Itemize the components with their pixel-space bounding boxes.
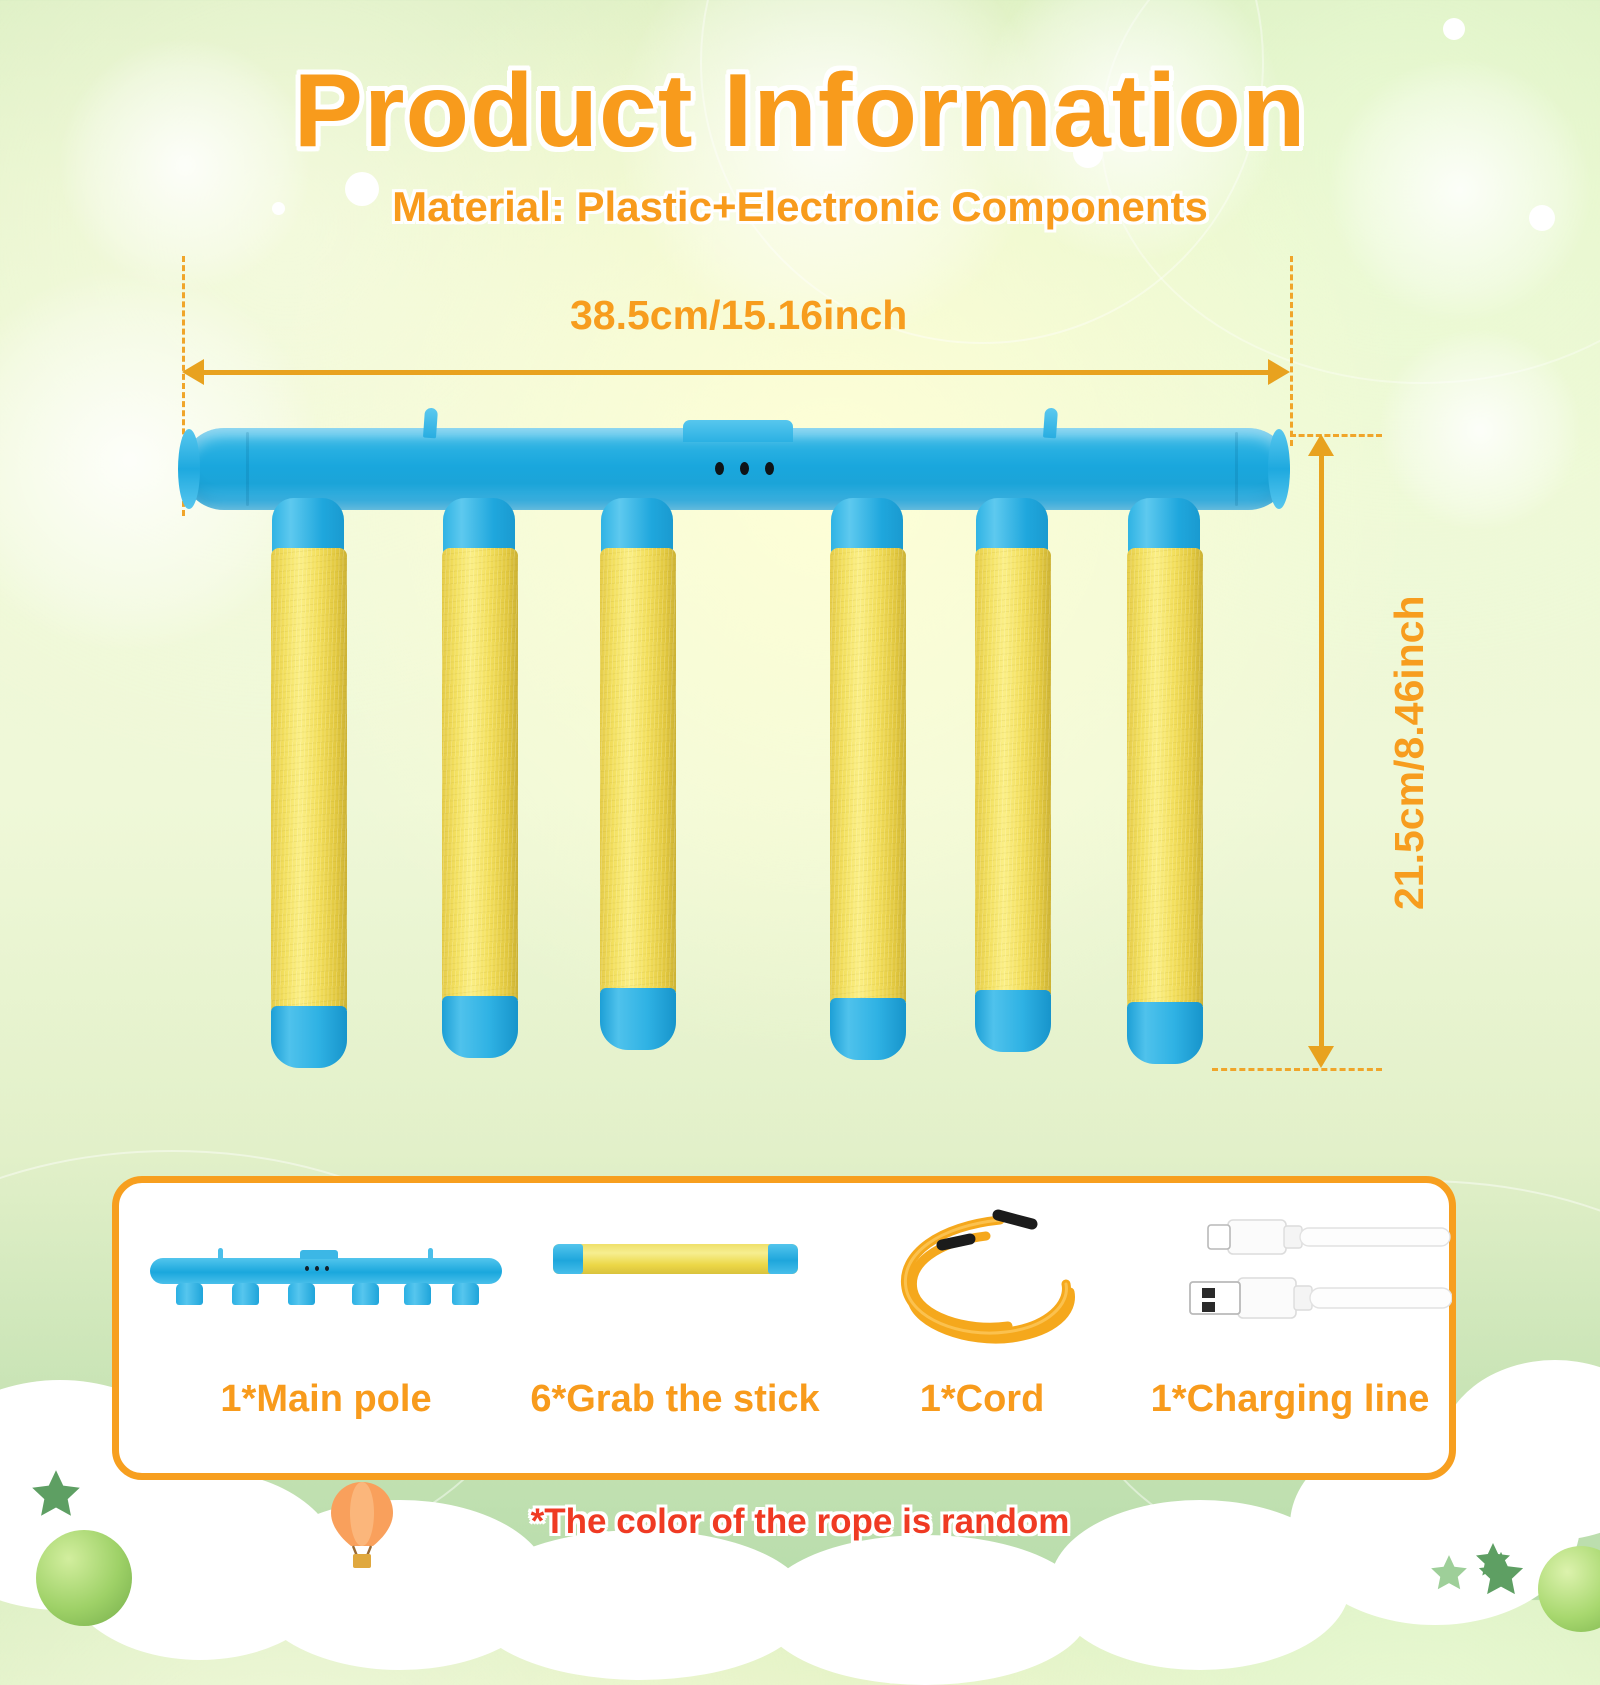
component-label-charging-line: 1*Charging line: [1130, 1378, 1450, 1421]
cord-icon: [882, 1192, 1082, 1362]
star-icon: [1473, 1540, 1513, 1580]
component-label-cord: 1*Cord: [862, 1378, 1102, 1421]
main-pole-icon: [150, 1258, 502, 1284]
height-arrow-line: [1319, 452, 1324, 1050]
guide-line-bottom: [1212, 1068, 1382, 1071]
pole-top-plate: [300, 1250, 338, 1259]
rope-color-footnote: *The color of the rope is random: [0, 1502, 1600, 1542]
star-icon: [1428, 1552, 1470, 1594]
width-arrow-head-right: [1268, 359, 1290, 385]
pole-hook-tab: [423, 408, 438, 439]
grab-stick-icon: [553, 1244, 798, 1274]
stick-cap-right: [768, 1244, 798, 1274]
grab-stick: [600, 548, 676, 1050]
pole-hook-tab: [1043, 408, 1058, 439]
component-label-main-pole: 1*Main pole: [150, 1378, 502, 1421]
pole-hook-tab: [218, 1248, 223, 1259]
speaker-holes: [305, 1266, 329, 1271]
material-subtitle: Material: Plastic+Electronic Components: [0, 183, 1600, 231]
grab-stick: [975, 548, 1051, 1052]
pole-top-plate: [683, 420, 793, 442]
stick-foam: [1127, 548, 1203, 1006]
width-dimension-label: 38.5cm/15.16inch: [570, 292, 907, 339]
stick-foam: [271, 548, 347, 1010]
stick-socket: [288, 1283, 315, 1305]
stick-cap: [1127, 1002, 1203, 1064]
charging-line-icon: [1152, 1196, 1452, 1336]
page-title: Product Information: [0, 52, 1600, 171]
stick-foam: [600, 548, 676, 992]
stick-socket: [176, 1283, 203, 1305]
stick-cap: [975, 990, 1051, 1052]
height-arrow-head-bottom: [1308, 1046, 1334, 1068]
cloud-shape: [470, 1530, 810, 1680]
stick-cap: [600, 988, 676, 1050]
stick-foam: [830, 548, 906, 1002]
stick-foam: [975, 548, 1051, 994]
guide-line-right: [1290, 256, 1293, 446]
grab-stick: [271, 548, 347, 1068]
component-label-grab-stick: 6*Grab the stick: [510, 1378, 840, 1421]
stick-socket: [404, 1283, 431, 1305]
speaker-holes: [715, 462, 774, 475]
stick-cap: [271, 1006, 347, 1068]
guide-line-top: [1290, 434, 1382, 437]
stick-cap: [442, 996, 518, 1058]
pole-seam: [1235, 432, 1238, 506]
grab-stick: [830, 548, 906, 1060]
stick-socket: [352, 1283, 379, 1305]
pole-seam: [246, 432, 249, 506]
stick-foam: [442, 548, 518, 1000]
grab-stick: [442, 548, 518, 1058]
height-dimension-label: 21.5cm/8.46inch: [1386, 595, 1433, 910]
width-arrow-head-left: [182, 359, 204, 385]
pole-end-cap-left: [178, 429, 200, 509]
pole-end-cap-right: [1268, 429, 1290, 509]
stick-cap: [830, 998, 906, 1060]
decor-dot: [1443, 18, 1465, 40]
stick-cap-left: [553, 1244, 583, 1274]
stick-socket: [452, 1283, 479, 1305]
stick-socket: [232, 1283, 259, 1305]
width-arrow-line: [200, 370, 1272, 375]
pole-hook-tab: [428, 1248, 433, 1259]
green-ball-decoration: [36, 1530, 132, 1626]
height-arrow-head-top: [1308, 434, 1334, 456]
cloud-shape: [760, 1535, 1090, 1685]
grab-stick: [1127, 548, 1203, 1064]
